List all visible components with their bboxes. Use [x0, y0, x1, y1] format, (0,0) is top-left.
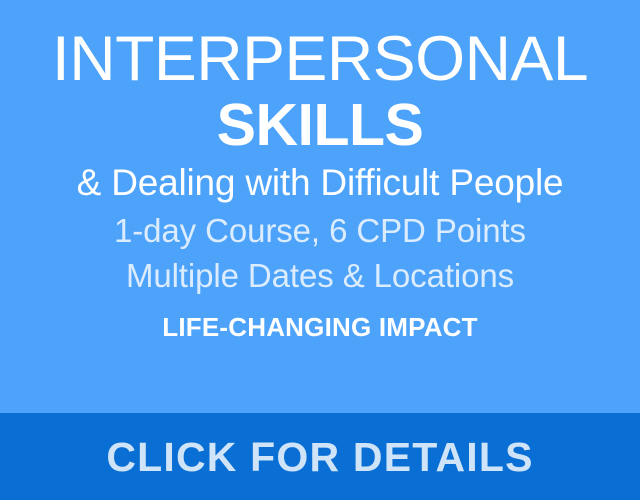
cta-button-label: CLICK FOR DETAILS	[106, 433, 533, 481]
headline-primary: INTERPERSONAL	[0, 24, 640, 94]
detail-dates-locations: Multiple Dates & Locations	[0, 253, 640, 298]
headline-secondary: SKILLS	[0, 92, 640, 158]
promo-content: INTERPERSONAL SKILLS & Dealing with Diff…	[0, 0, 640, 413]
subheadline: & Dealing with Difficult People	[0, 160, 640, 206]
promo-banner: INTERPERSONAL SKILLS & Dealing with Diff…	[0, 0, 640, 500]
cta-button[interactable]: CLICK FOR DETAILS	[0, 413, 640, 500]
detail-course-info: 1-day Course, 6 CPD Points	[0, 208, 640, 253]
tagline: LIFE-CHANGING IMPACT	[0, 310, 640, 344]
